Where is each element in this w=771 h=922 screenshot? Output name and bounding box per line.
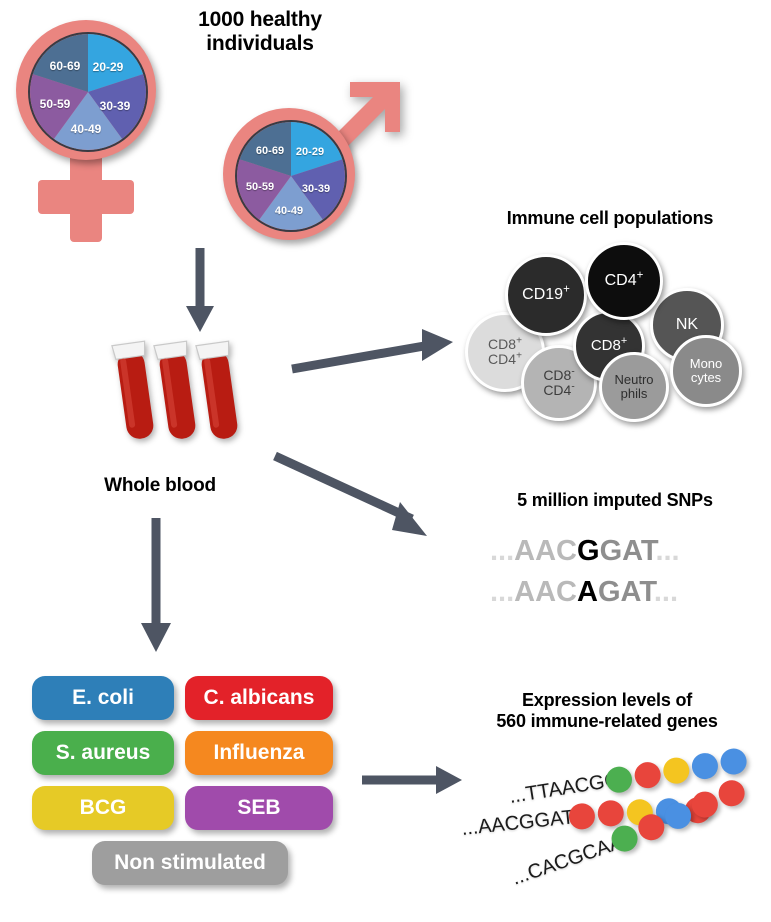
cell-cd19: CD19+ (505, 254, 587, 336)
male-age-pie: 20-29 30-39 40-49 50-59 60-69 (235, 120, 347, 232)
gene-bead (596, 799, 625, 828)
stimulus-non-stimulated-label: Non stimulated (114, 851, 266, 875)
stimulus-e-coli-label: E. coli (72, 686, 134, 710)
female-age-pie: 20-29 30-39 40-49 50-59 60-69 (28, 32, 148, 152)
gene-expression-title-line2: 560 immune-related genes (452, 711, 762, 732)
gene-strand-2-sequence: ...AACGGAT (460, 806, 575, 841)
cell-neutrophils: Neutrophils (599, 352, 669, 422)
immune-cell-cluster: CD19+ CD4+ CD8+ CD4+ CD8+ NK CD8- CD4- N… (455, 240, 771, 425)
snp-row-1: ...AACGGAT... (490, 535, 680, 568)
stimulus-bcg[interactable]: BCG (32, 786, 174, 830)
cell-monocytes: Monocytes (670, 335, 742, 407)
gene-bead (633, 760, 663, 790)
pie-label-50-59: 50-59 (40, 97, 71, 111)
arrow-blood-to-snps (272, 450, 452, 550)
female-symbol: 20-29 30-39 40-49 50-59 60-69 (8, 12, 198, 242)
gene-bead (719, 747, 749, 777)
stimulus-s-aureus-label: S. aureus (56, 741, 151, 765)
gene-bead (661, 756, 691, 786)
snp-row-1-prefix: ... (490, 535, 514, 567)
cell-cd4: CD4+ (585, 242, 663, 320)
stimulus-seb-label: SEB (237, 796, 280, 820)
pie-label-male-40-49: 40-49 (275, 205, 303, 217)
pie-label-60-69: 60-69 (50, 59, 81, 73)
pie-label-male-20-29: 20-29 (296, 146, 324, 158)
snp-title: 5 million imputed SNPs (470, 490, 760, 511)
gene-strand-cluster: ...TTAACGG ...AACGGAT ...CACGCAA (440, 748, 771, 913)
cell-cd8p-cd4p-label: CD8+ CD4+ (488, 337, 522, 366)
snp-row-1-variant: G (577, 535, 600, 567)
snp-row-2: ...AACAGAT... (490, 576, 678, 609)
stimulus-c-albicans[interactable]: C. albicans (185, 676, 333, 720)
gene-bead (690, 751, 720, 781)
snp-row-2-prefix: ... (490, 576, 514, 608)
pie-label-40-49: 40-49 (71, 122, 102, 136)
blood-tubes (105, 335, 245, 460)
gene-expression-title-line1: Expression levels of (452, 690, 762, 711)
arrow-cohort-to-blood (180, 248, 220, 338)
snp-row-2-suffix: ... (654, 576, 678, 608)
figure-canvas: 1000 healthy individuals 20-29 30-39 40-… (0, 0, 771, 922)
cell-cd8-label: CD8+ (591, 338, 627, 354)
stimulus-influenza[interactable]: Influenza (185, 731, 333, 775)
cell-cd19-label: CD19+ (522, 287, 570, 304)
pie-label-male-30-39: 30-39 (302, 183, 330, 195)
cell-cd4-label: CD4+ (605, 273, 644, 290)
snp-row-1-pre: AAC (514, 535, 577, 567)
snp-row-2-pre: AAC (514, 576, 577, 608)
pie-label-20-29: 20-29 (93, 60, 124, 74)
cell-nk-label: NK (676, 317, 698, 334)
female-crossbar (38, 180, 134, 214)
stimulus-non-stimulated[interactable]: Non stimulated (92, 841, 288, 885)
pie-label-male-60-69: 60-69 (256, 145, 284, 157)
immune-cell-title: Immune cell populations (455, 208, 765, 229)
stimulus-bcg-label: BCG (80, 796, 127, 820)
stimulus-e-coli[interactable]: E. coli (32, 676, 174, 720)
cell-cd8n-cd4n-label: CD8- CD4- (543, 368, 574, 397)
male-symbol: 20-29 30-39 40-49 50-59 60-69 (205, 60, 420, 250)
gene-expression-title: Expression levels of 560 immune-related … (452, 690, 762, 731)
pie-label-30-39: 30-39 (100, 99, 131, 113)
snp-row-2-post: GAT (598, 576, 654, 608)
pie-label-male-50-59: 50-59 (246, 181, 274, 193)
arrow-blood-to-immune-cells (290, 325, 460, 385)
arrow-blood-to-stimuli (135, 518, 177, 658)
snp-row-1-post: GAT (600, 535, 656, 567)
stimulus-seb[interactable]: SEB (185, 786, 333, 830)
stimulus-influenza-label: Influenza (213, 741, 304, 765)
cell-monocytes-label: Monocytes (690, 357, 723, 384)
snp-row-1-suffix: ... (655, 535, 679, 567)
cell-neutrophils-label: Neutrophils (614, 373, 653, 400)
stimulus-c-albicans-label: C. albicans (204, 686, 315, 710)
whole-blood-label: Whole blood (85, 475, 235, 497)
snp-row-2-variant: A (577, 576, 598, 608)
stimulus-s-aureus[interactable]: S. aureus (32, 731, 174, 775)
